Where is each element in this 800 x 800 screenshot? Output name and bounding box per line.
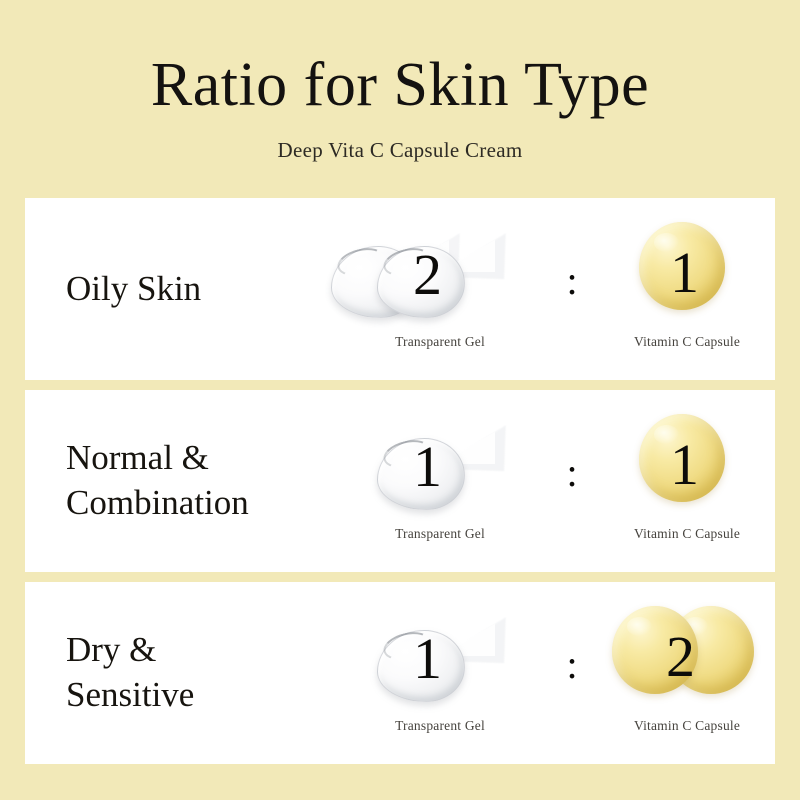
gel-illustration: 1 (325, 594, 555, 712)
gel-caption: Transparent Gel (325, 526, 555, 542)
skin-type-line-1: Dry & (66, 628, 336, 673)
page-subtitle: Deep Vita C Capsule Cream (0, 138, 800, 163)
gel-illustration: 1 (325, 402, 555, 520)
gel-count-value: 2 (413, 246, 442, 304)
vitamin-c-capsule-group: 1 Vitamin C Capsule (572, 198, 775, 380)
skin-type-label: Dry & Sensitive (66, 582, 336, 764)
skin-type-label: Normal & Combination (66, 390, 336, 572)
ratio-row-dry-sensitive: Dry & Sensitive 1 Transparent Gel : 2 Vi… (25, 582, 775, 764)
gel-illustration: 2 (325, 210, 555, 328)
skin-type-line-2: Combination (66, 481, 336, 526)
capsule-count-value: 1 (670, 436, 699, 494)
gel-count-value: 1 (413, 630, 442, 688)
capsule-illustration: 1 (572, 214, 775, 326)
gel-caption: Transparent Gel (325, 334, 555, 350)
vitamin-c-capsule-group: 1 Vitamin C Capsule (572, 390, 775, 572)
capsule-count-value: 1 (670, 244, 699, 302)
skin-type-line-2: Sensitive (66, 673, 336, 718)
ratio-row-oily-skin: Oily Skin 2 Transparent Gel : (25, 198, 775, 380)
gel-caption: Transparent Gel (325, 718, 555, 734)
capsule-illustration: 2 (572, 598, 775, 710)
capsule-illustration: 1 (572, 406, 775, 518)
capsule-count-value: 2 (666, 628, 695, 686)
skin-type-line-1: Oily Skin (66, 267, 336, 312)
transparent-gel-group: 2 Transparent Gel (325, 198, 555, 380)
capsule-caption: Vitamin C Capsule (572, 334, 775, 350)
transparent-gel-group: 1 Transparent Gel (325, 390, 555, 572)
vitamin-c-capsule-group: 2 Vitamin C Capsule (572, 582, 775, 764)
skin-type-line-1: Normal & (66, 436, 336, 481)
page-title: Ratio for Skin Type (0, 54, 800, 116)
ratio-row-normal-combination: Normal & Combination 1 Transparent Gel :… (25, 390, 775, 572)
capsule-caption: Vitamin C Capsule (572, 718, 775, 734)
ratio-card-list: Oily Skin 2 Transparent Gel : (25, 198, 775, 764)
skin-type-label: Oily Skin (66, 198, 336, 380)
transparent-gel-group: 1 Transparent Gel (325, 582, 555, 764)
gel-count-value: 1 (413, 438, 442, 496)
capsule-caption: Vitamin C Capsule (572, 526, 775, 542)
page-header: Ratio for Skin Type Deep Vita C Capsule … (0, 0, 800, 163)
